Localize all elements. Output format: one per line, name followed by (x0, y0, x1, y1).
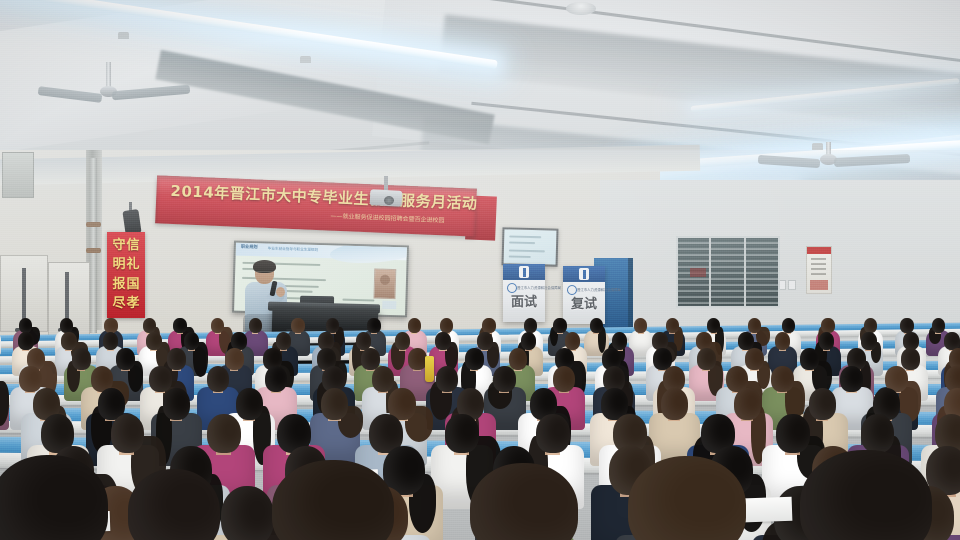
motto-column-right: 守 明 报 尽 (112, 236, 125, 314)
secondary-screen-line (509, 241, 535, 243)
secondary-screen-line (509, 235, 541, 237)
audience-head (440, 318, 453, 333)
sign-header-band (563, 266, 605, 282)
audience-head (408, 318, 421, 333)
audience-head (524, 318, 537, 333)
ceiling-fan-left (96, 62, 236, 112)
sign-label: 复试 (563, 298, 605, 312)
secondary-projection-screen (502, 227, 559, 266)
motto-char: 国 (127, 278, 140, 292)
audience-head (782, 318, 795, 333)
sign-org-text: 晋江市人力资源和社会保障局 (577, 287, 621, 292)
lecture-hall-photo: 2014年晋江市大中专毕业生就业服务月活动 ——就业服务促进校园招聘会暨百企进校… (0, 0, 960, 540)
motto-char: 尽 (112, 297, 125, 311)
tube-clip (300, 56, 311, 63)
audience-head (864, 318, 877, 333)
audience-head (143, 318, 156, 333)
motto-char: 报 (112, 278, 125, 292)
fan-rod (106, 62, 111, 88)
standing-sign-2: 晋江市人力资源和社会保障局 复试 (563, 266, 605, 324)
foreground-audience-head (470, 463, 578, 540)
motto-banner: 守 明 报 尽 信 礼 国 孝 (107, 232, 145, 318)
motto-char: 礼 (127, 258, 140, 272)
pipe-ring (86, 248, 101, 253)
window-mullion (744, 238, 746, 306)
electrical-box (2, 152, 34, 198)
audience-head (173, 318, 186, 333)
event-banner-subtitle: ——就业服务促进校园招聘会暨百企进校园 (330, 211, 476, 226)
sign-org-text: 晋江市人力资源和社会保障局 (517, 285, 561, 290)
projector-lens-icon (384, 196, 394, 205)
slide-title: 职业规划 (241, 244, 258, 250)
emblem-icon (579, 268, 589, 280)
slide-text-line (342, 299, 374, 302)
secondary-screen-line (509, 249, 545, 252)
drink-bottle (425, 356, 434, 382)
audience-head (221, 486, 274, 540)
audience-head (367, 318, 380, 333)
sign-label: 面试 (503, 296, 545, 310)
audience-head (707, 318, 720, 333)
presenter-hand (276, 287, 285, 297)
sign-header-band (503, 264, 545, 280)
org-logo-icon (567, 285, 577, 295)
audience-head (326, 318, 339, 333)
pipe-ring (86, 222, 101, 227)
wall-poster (806, 246, 832, 294)
standing-sign-1: 晋江市人力资源和社会保障局 面试 (503, 264, 545, 322)
wall-pipe (90, 158, 97, 333)
audience-head (634, 318, 647, 333)
smoke-detector-icon (566, 2, 596, 15)
audience-head (19, 318, 32, 333)
motto-char: 守 (112, 239, 125, 253)
audience-head (72, 348, 91, 370)
audience-head (60, 318, 73, 333)
glasses-icon (256, 271, 273, 276)
slide-portrait-image (373, 268, 396, 299)
motto-char: 孝 (127, 297, 140, 311)
audience-head (553, 318, 566, 333)
slide-wave-decoration (329, 243, 407, 266)
tube-clip (118, 32, 129, 39)
audience-head (932, 318, 945, 333)
audience-head (900, 318, 913, 333)
org-logo-icon (507, 283, 517, 293)
audience-head (590, 318, 603, 333)
audience-head (249, 318, 262, 333)
window-mullion (709, 238, 711, 306)
motto-char: 明 (112, 258, 125, 272)
foreground-audience-head (128, 469, 220, 540)
audience-head (748, 318, 761, 333)
poster-image (810, 280, 828, 290)
fan-blade (112, 85, 190, 101)
audience-head (666, 318, 679, 333)
secondary-screen-surface (504, 229, 557, 264)
motto-char: 信 (127, 239, 140, 253)
slide-footer-chip (382, 301, 396, 309)
door-frame-edge (628, 258, 633, 330)
fan-blade (834, 154, 910, 167)
audience-head (821, 318, 834, 333)
audience-head (104, 318, 117, 333)
window-reflection (690, 268, 706, 277)
audience-head (291, 318, 304, 333)
poster-header (807, 247, 831, 254)
foreground-audience-head (628, 456, 746, 540)
emblem-icon (519, 266, 529, 278)
secondary-screen-line (509, 255, 531, 257)
window-with-blinds (676, 236, 780, 308)
motto-column-left: 信 礼 国 孝 (127, 236, 140, 314)
audience-head (482, 318, 495, 333)
light-switch[interactable] (788, 280, 796, 290)
audience-head (211, 318, 224, 333)
